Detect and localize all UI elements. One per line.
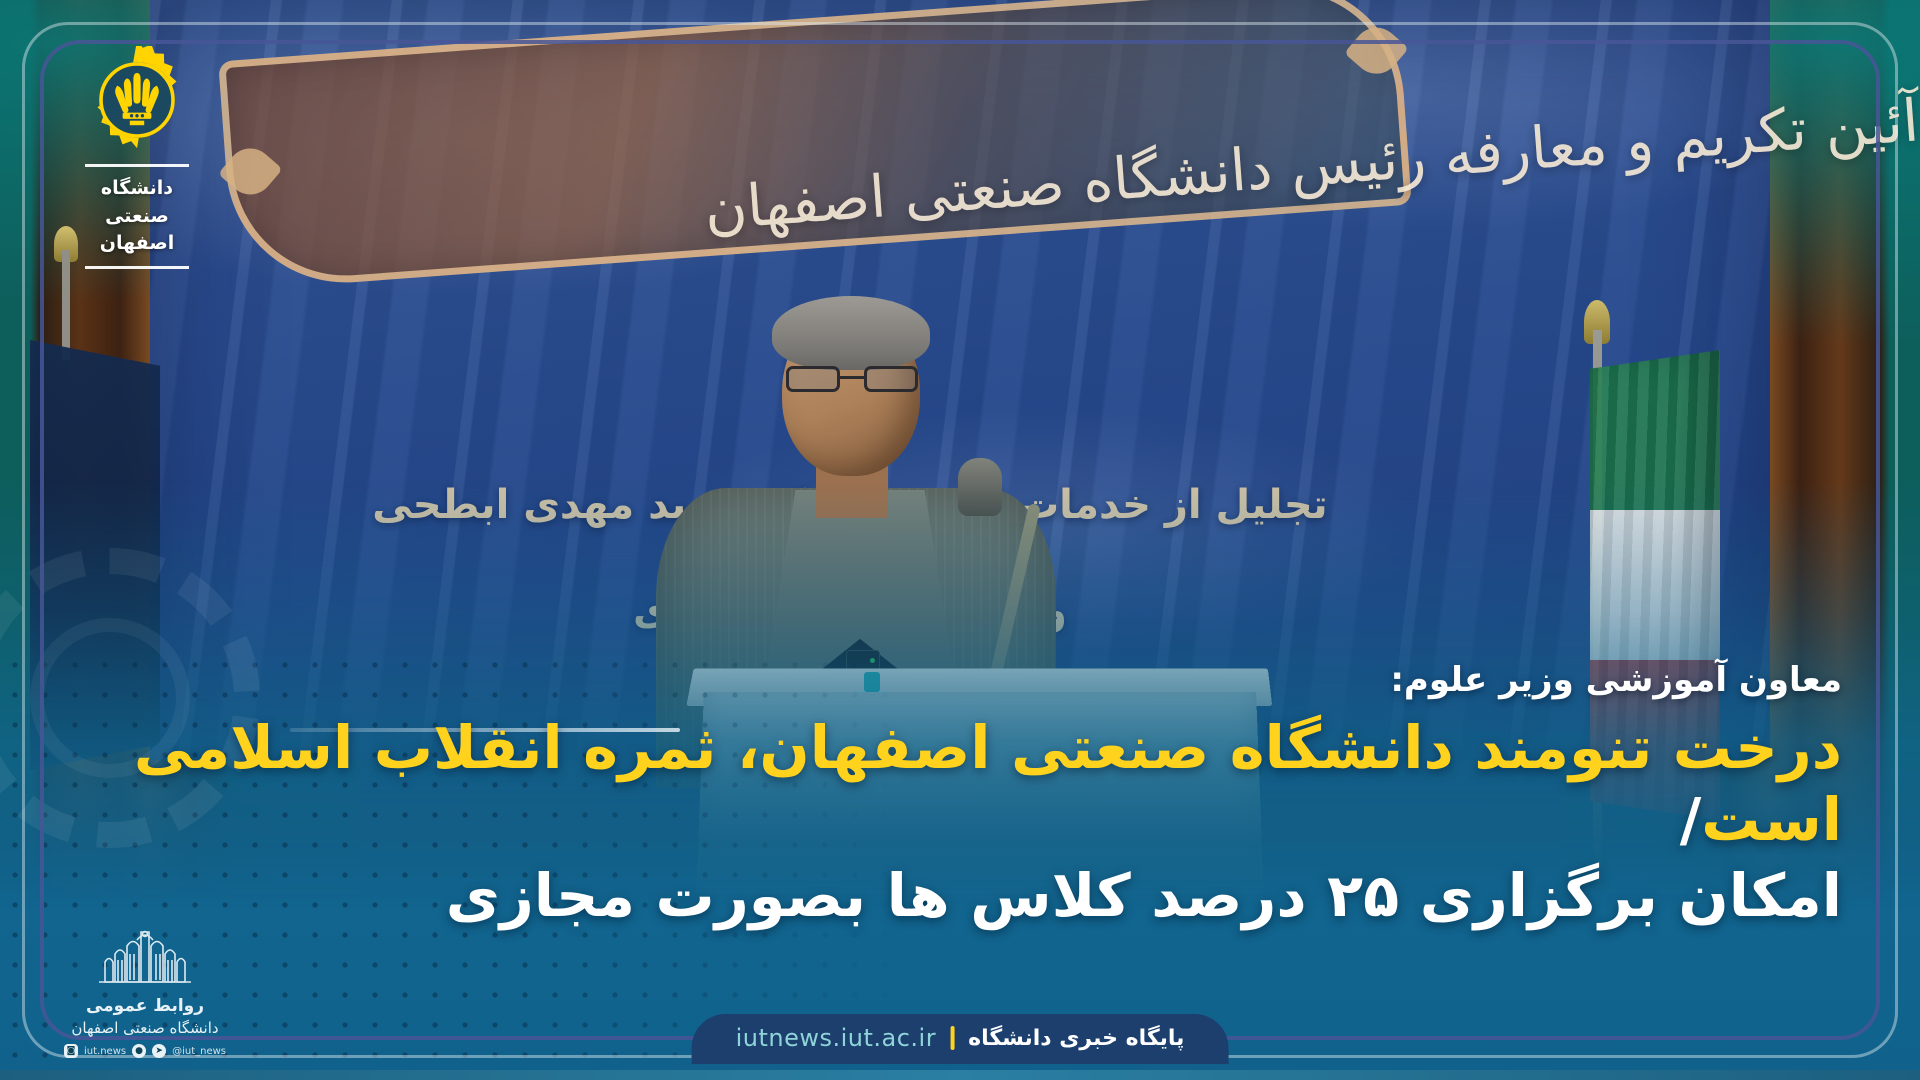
- brand-divider-top: [85, 164, 189, 167]
- university-brand-block: دانشگاه صنعتی اصفهان: [62, 46, 212, 269]
- headline-secondary: امکان برگزاری ۲۵ درصد کلاس ها بصورت مجاز…: [120, 860, 1842, 932]
- public-relations-logo-block: روابط عمومی دانشگاه صنعتی اصفهان ◙ iut.n…: [50, 926, 240, 1058]
- eitaa-icon[interactable]: ●: [132, 1044, 146, 1058]
- telegram-handle: @iut_news: [172, 1046, 226, 1057]
- brand-line-1: دانشگاه: [62, 175, 212, 203]
- eyeglasses-icon: [786, 366, 918, 392]
- eyeglass-lens-left: [786, 366, 840, 392]
- headline-primary: درخت تنومند دانشگاه صنعتی اصفهان، ثمره ا…: [120, 712, 1842, 856]
- eyeglass-lens-right: [864, 366, 918, 392]
- footer-site-url[interactable]: iutnews.iut.ac.ir: [736, 1024, 937, 1052]
- instagram-handle: iut.news: [84, 1046, 126, 1057]
- footer-separator: [950, 1026, 954, 1050]
- headline-block: معاون آموزشی وزیر علوم: درخت تنومند دانش…: [120, 660, 1842, 932]
- brand-line-3: اصفهان: [62, 230, 212, 258]
- bottom-accent-strip: [0, 1070, 1920, 1080]
- headline-kicker: معاون آموزشی وزیر علوم:: [120, 660, 1842, 700]
- telegram-icon[interactable]: ➤: [152, 1044, 166, 1058]
- pr-title: روابط عمومی: [50, 996, 240, 1016]
- eyeglass-bridge: [840, 376, 864, 379]
- isfahan-skyline-icon: [85, 926, 205, 988]
- headline-primary-text: درخت تنومند دانشگاه صنعتی اصفهان، ثمره ا…: [134, 713, 1842, 854]
- footer-website-pill[interactable]: پایگاه خبری دانشگاه iutnews.iut.ac.ir: [692, 1014, 1229, 1064]
- brand-divider-bottom: [85, 266, 189, 269]
- pr-social-handles[interactable]: ◙ iut.news ● ➤ @iut_news: [50, 1044, 240, 1058]
- pr-subtitle: دانشگاه صنعتی اصفهان: [50, 1019, 240, 1037]
- instagram-icon[interactable]: ◙: [64, 1044, 78, 1058]
- brand-line-2: صنعتی: [62, 203, 212, 231]
- iut-gear-logo-icon: [83, 46, 191, 154]
- news-card-stage: آئین تکریم و معارفه رئیس دانشگاه صنعتی ا…: [0, 0, 1920, 1080]
- footer-label: پایگاه خبری دانشگاه: [968, 1026, 1184, 1051]
- speaker-hair: [772, 296, 930, 370]
- headline-slash: /: [1680, 785, 1702, 854]
